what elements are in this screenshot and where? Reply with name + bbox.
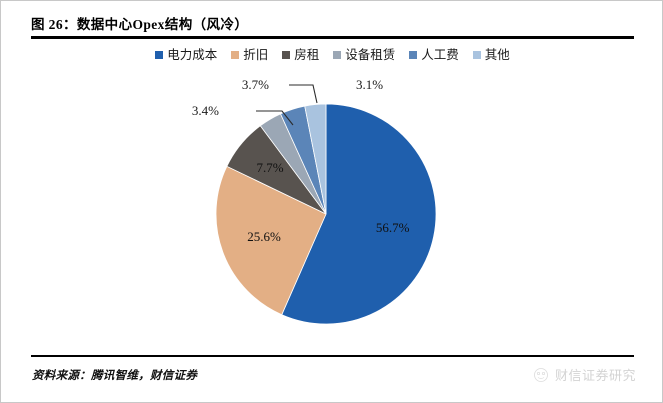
legend-swatch-icon [473,51,481,59]
legend-item-label: 电力成本 [167,49,217,62]
legend-swatch-icon [409,51,417,59]
legend-swatch-icon [231,51,239,59]
legend-item-label: 其他 [485,49,510,62]
pie-slice-label: 7.7% [256,160,283,175]
pie-slice-label: 3.7% [242,77,269,92]
legend-item-label: 房租 [294,49,319,62]
legend-item-label: 折旧 [243,49,268,62]
pie-slice-label: 56.7% [376,220,410,235]
pie-slice-label: 25.6% [247,229,281,244]
watermark: 财信证券研究 [533,365,636,384]
legend-swatch-icon [155,51,163,59]
watermark-label: 财信证券研究 [555,365,636,384]
source-note: 资料来源：腾讯智维，财信证券 [32,367,197,383]
pie-chart: 56.7%25.6%7.7%3.4%3.7%3.1% [1,73,663,348]
pie-label-leader-line [289,85,317,103]
title-divider [31,36,634,39]
page-title: 图 26：数据中心Opex结构（风冷） [31,13,248,33]
legend-swatch-icon [282,51,290,59]
pie-chart-svg: 56.7%25.6%7.7%3.4%3.7%3.1% [1,73,663,348]
circle-logo-icon [533,367,549,383]
legend-swatch-icon [333,51,341,59]
legend-item-shebeizulin[interactable]: 设备租赁 [333,49,395,62]
pie-slice-group [216,104,436,324]
legend-item-label: 设备租赁 [345,49,395,62]
pie-slice-label: 3.1% [356,77,383,92]
legend-item-qita[interactable]: 其他 [473,49,510,62]
chart-legend: 电力成本 折旧 房租 设备租赁 人工费 其他 [1,49,663,62]
legend-item-label: 人工费 [421,49,459,62]
pie-slice-label: 3.4% [192,103,219,118]
figure-card: 图 26：数据中心Opex结构（风冷） 电力成本 折旧 房租 设备租赁 人工费 … [0,0,663,403]
footer-divider [31,355,634,357]
legend-item-zhejiu[interactable]: 折旧 [231,49,268,62]
legend-item-rengongfei[interactable]: 人工费 [409,49,459,62]
legend-item-dianlichengben[interactable]: 电力成本 [155,49,217,62]
legend-item-fangzu[interactable]: 房租 [282,49,319,62]
